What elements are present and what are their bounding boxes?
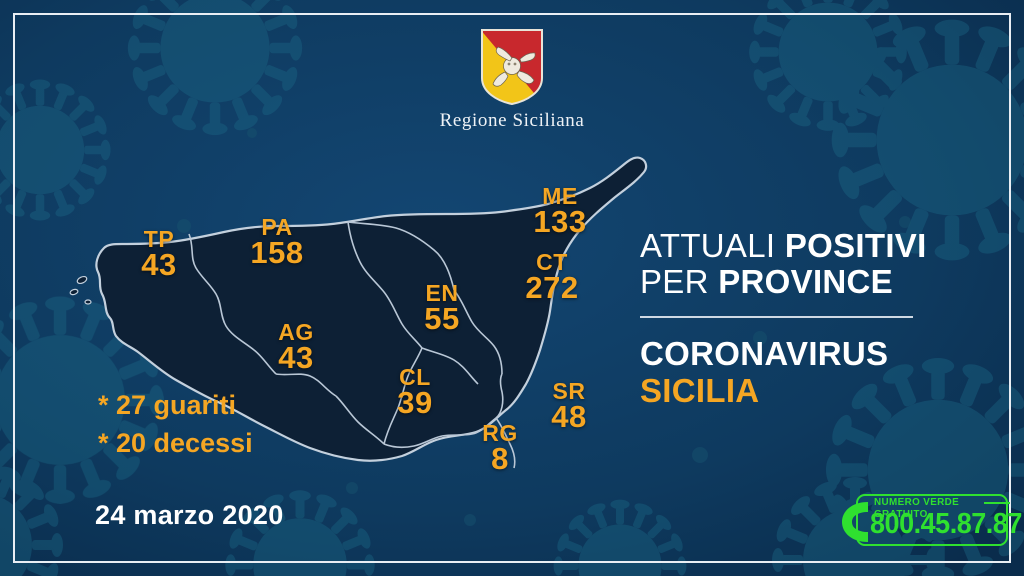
headline-province: PROVINCE: [718, 263, 893, 300]
headline-panel: ATTUALI POSITIVI PER PROVINCE CORONAVIRU…: [640, 228, 940, 410]
headline-line-1: ATTUALI POSITIVI: [640, 228, 940, 264]
regione-siciliana-crest-icon: [479, 28, 545, 106]
logo-container: [0, 28, 1024, 111]
sicily-map-svg: [58, 130, 658, 530]
phone-handset-icon: [838, 498, 872, 546]
stat-recovered: * 27 guariti: [98, 386, 253, 424]
hotline-label-rule: [984, 502, 1010, 504]
headline-line-2: PER PROVINCE: [640, 264, 940, 300]
headline-positivi: POSITIVI: [785, 227, 927, 264]
infographic-canvas: Regione Siciliana: [0, 0, 1024, 576]
logo-caption: Regione Siciliana: [0, 110, 1024, 132]
subject-sicilia: SICILIA: [640, 373, 940, 410]
hotline-banner[interactable]: NUMERO VERDE GRATUITO 800.45.87.87: [838, 492, 1010, 550]
subject-coronavirus: CORONAVIRUS: [640, 336, 940, 373]
stat-deaths: * 20 decessi: [98, 424, 253, 462]
offshore-islets: [69, 275, 91, 304]
headline-divider: [640, 316, 913, 318]
report-date: 24 marzo 2020: [95, 500, 284, 531]
summary-stats: * 27 guariti * 20 decessi: [98, 386, 253, 463]
hotline-number[interactable]: 800.45.87.87: [870, 508, 1022, 541]
sicily-province-map: TP 43 PA 158 ME 133 AG 43 EN 55 CT 272 C…: [58, 130, 658, 535]
headline-per: PER: [640, 263, 709, 300]
headline-attuali: ATTUALI: [640, 227, 775, 264]
